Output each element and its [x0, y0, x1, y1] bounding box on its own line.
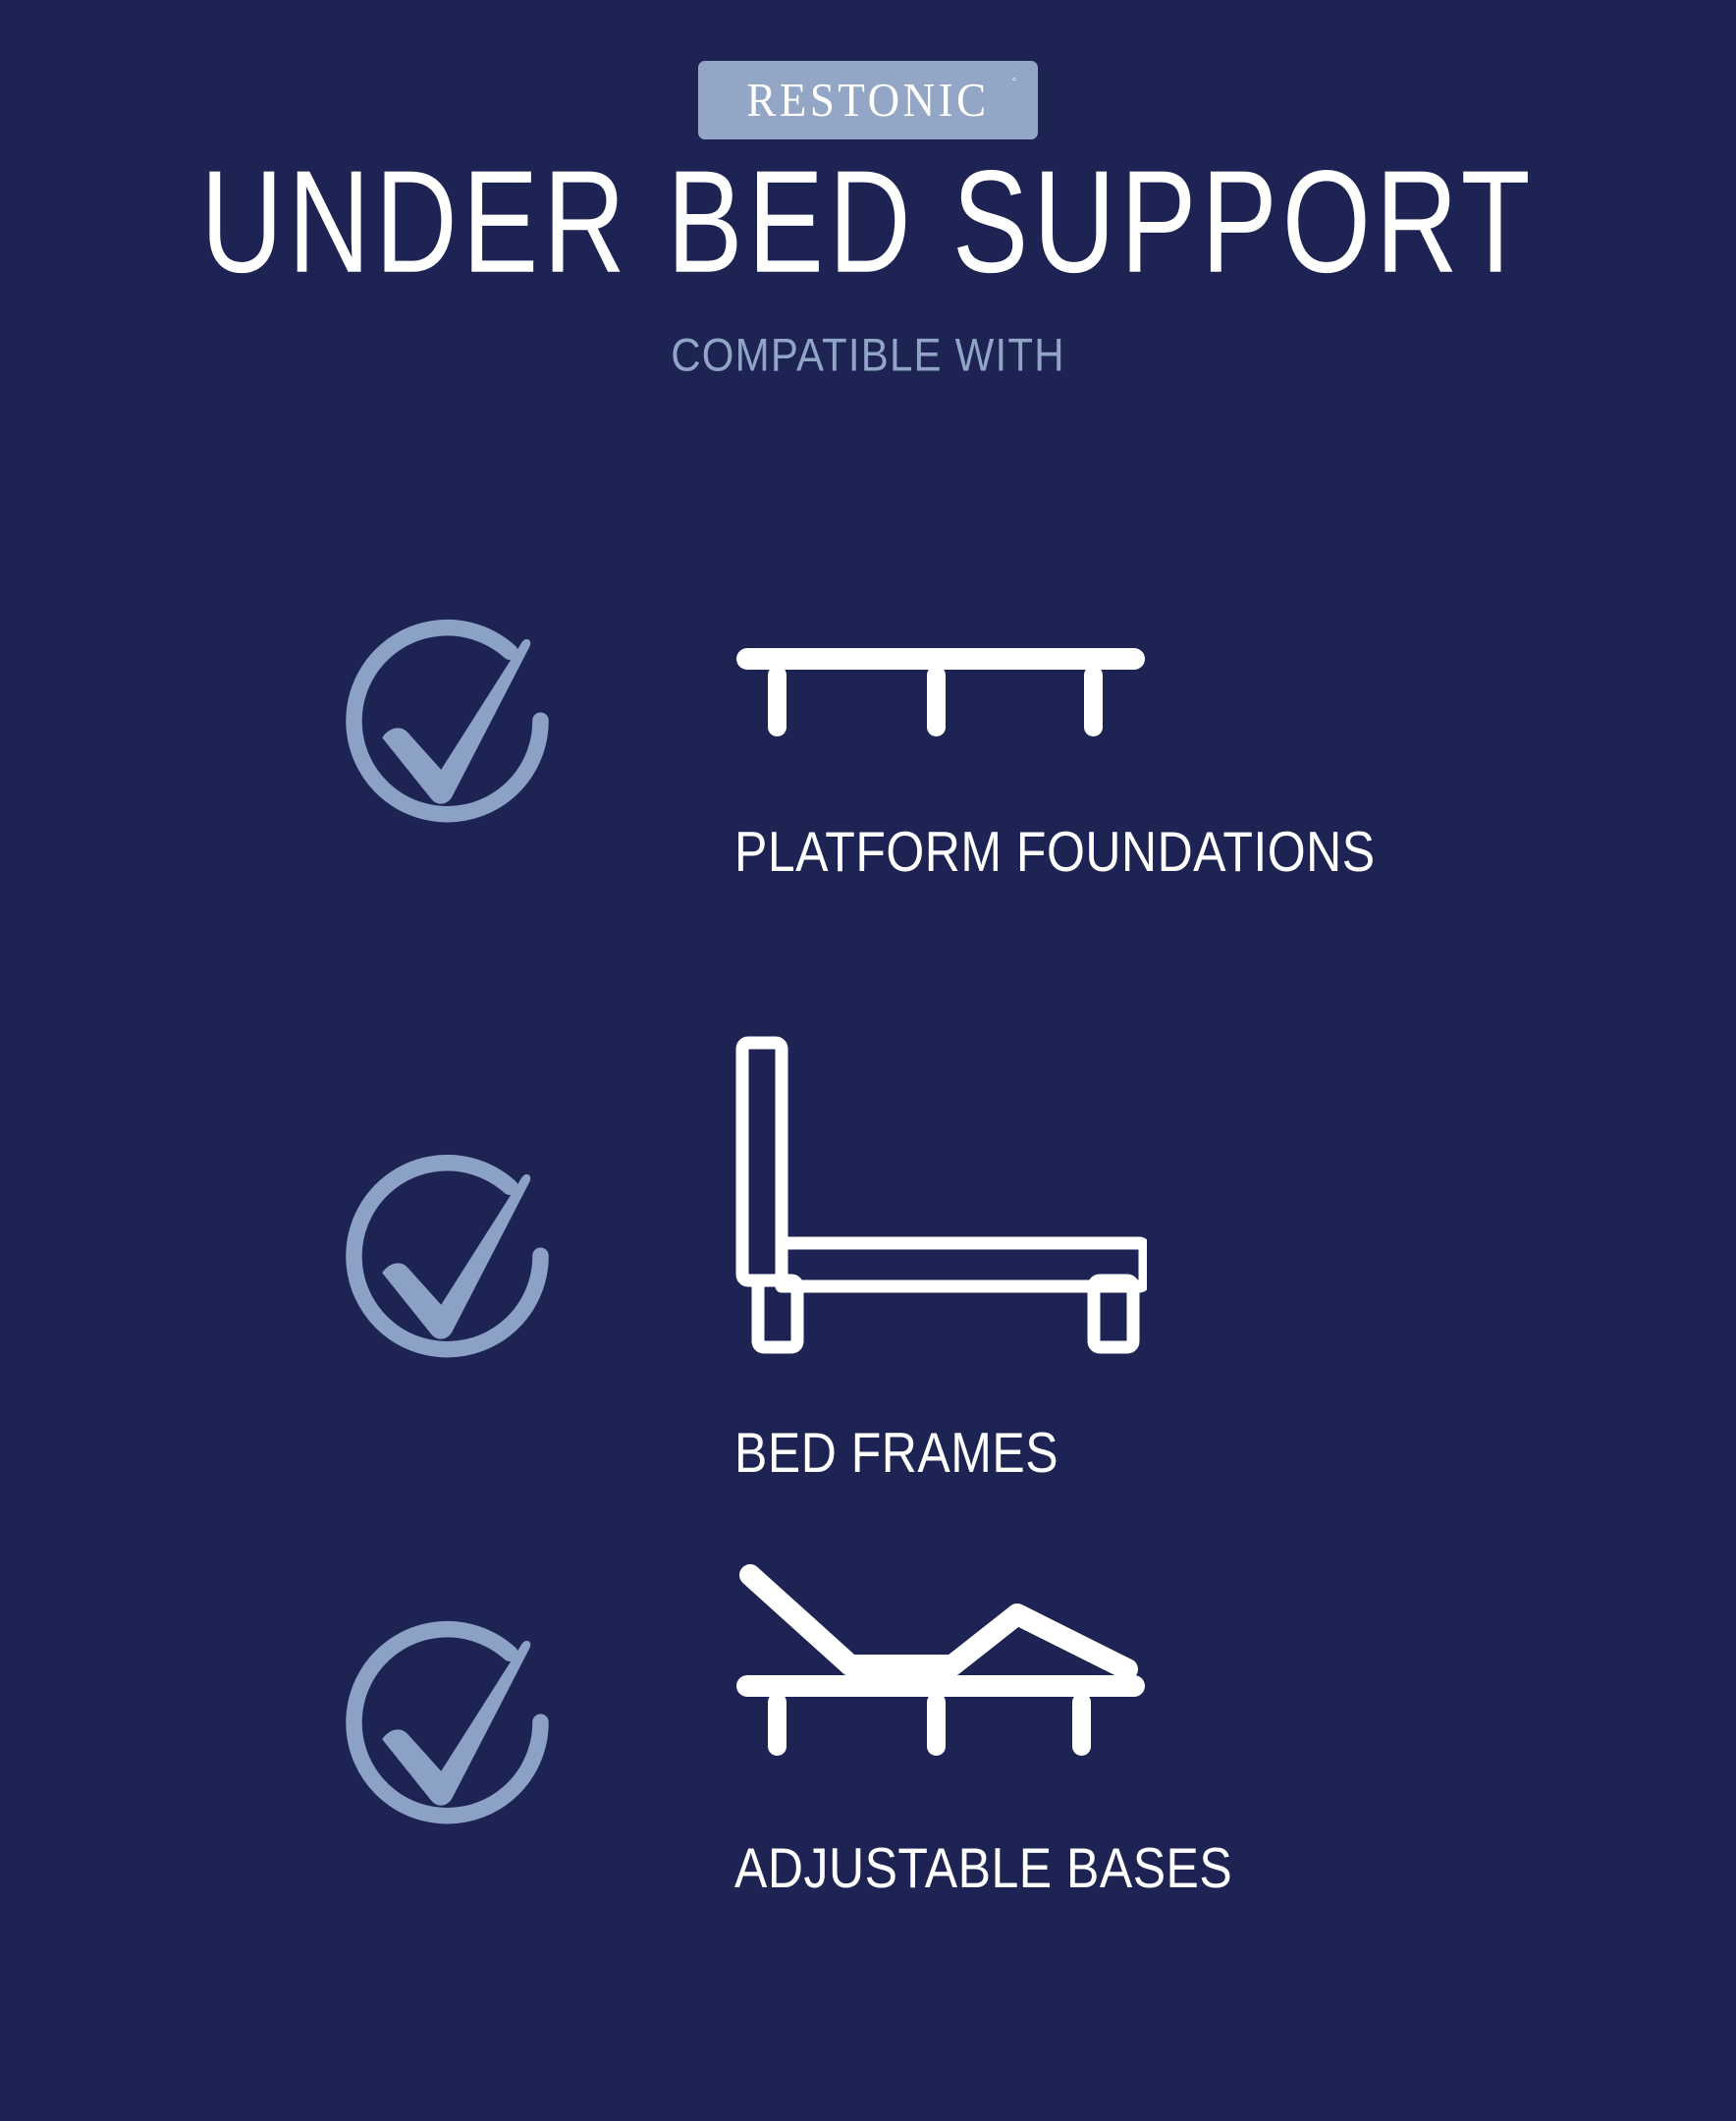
feature-content: BED FRAMES	[734, 1035, 1147, 1477]
list-item: ADJUSTABLE BASES	[0, 1532, 1736, 2003]
under-bed-support-infographic: RESTONIC ° UNDER BED SUPPORT COMPATIBLE …	[0, 0, 1736, 2121]
feature-content: PLATFORM FOUNDATIONS	[734, 646, 1376, 876]
check-circle-icon	[332, 609, 577, 854]
list-item-label: BED FRAMES	[734, 1420, 1147, 1486]
compatibility-list: PLATFORM FOUNDATIONS	[0, 589, 1736, 2003]
platform-foundation-icon	[734, 646, 1147, 744]
page-subtitle: COMPATIBLE WITH	[0, 329, 1736, 382]
bed-frame-icon	[734, 1035, 1147, 1359]
list-item: PLATFORM FOUNDATIONS	[0, 589, 1736, 1060]
page-title: UNDER BED SUPPORT	[0, 147, 1736, 296]
adjustable-base-icon	[734, 1559, 1147, 1761]
brand-row: RESTONIC °	[0, 61, 1736, 139]
list-item: BED FRAMES	[0, 1060, 1736, 1532]
restonic-logo-badge: RESTONIC °	[698, 61, 1038, 139]
check-circle-icon	[332, 1144, 577, 1389]
list-item-label: PLATFORM FOUNDATIONS	[734, 819, 1376, 885]
trademark-mark: °	[1012, 78, 1016, 88]
brand-name: RESTONIC	[746, 77, 989, 125]
feature-content: ADJUSTABLE BASES	[734, 1559, 1232, 1892]
list-item-label: ADJUSTABLE BASES	[734, 1835, 1232, 1901]
check-circle-icon	[332, 1610, 577, 1856]
